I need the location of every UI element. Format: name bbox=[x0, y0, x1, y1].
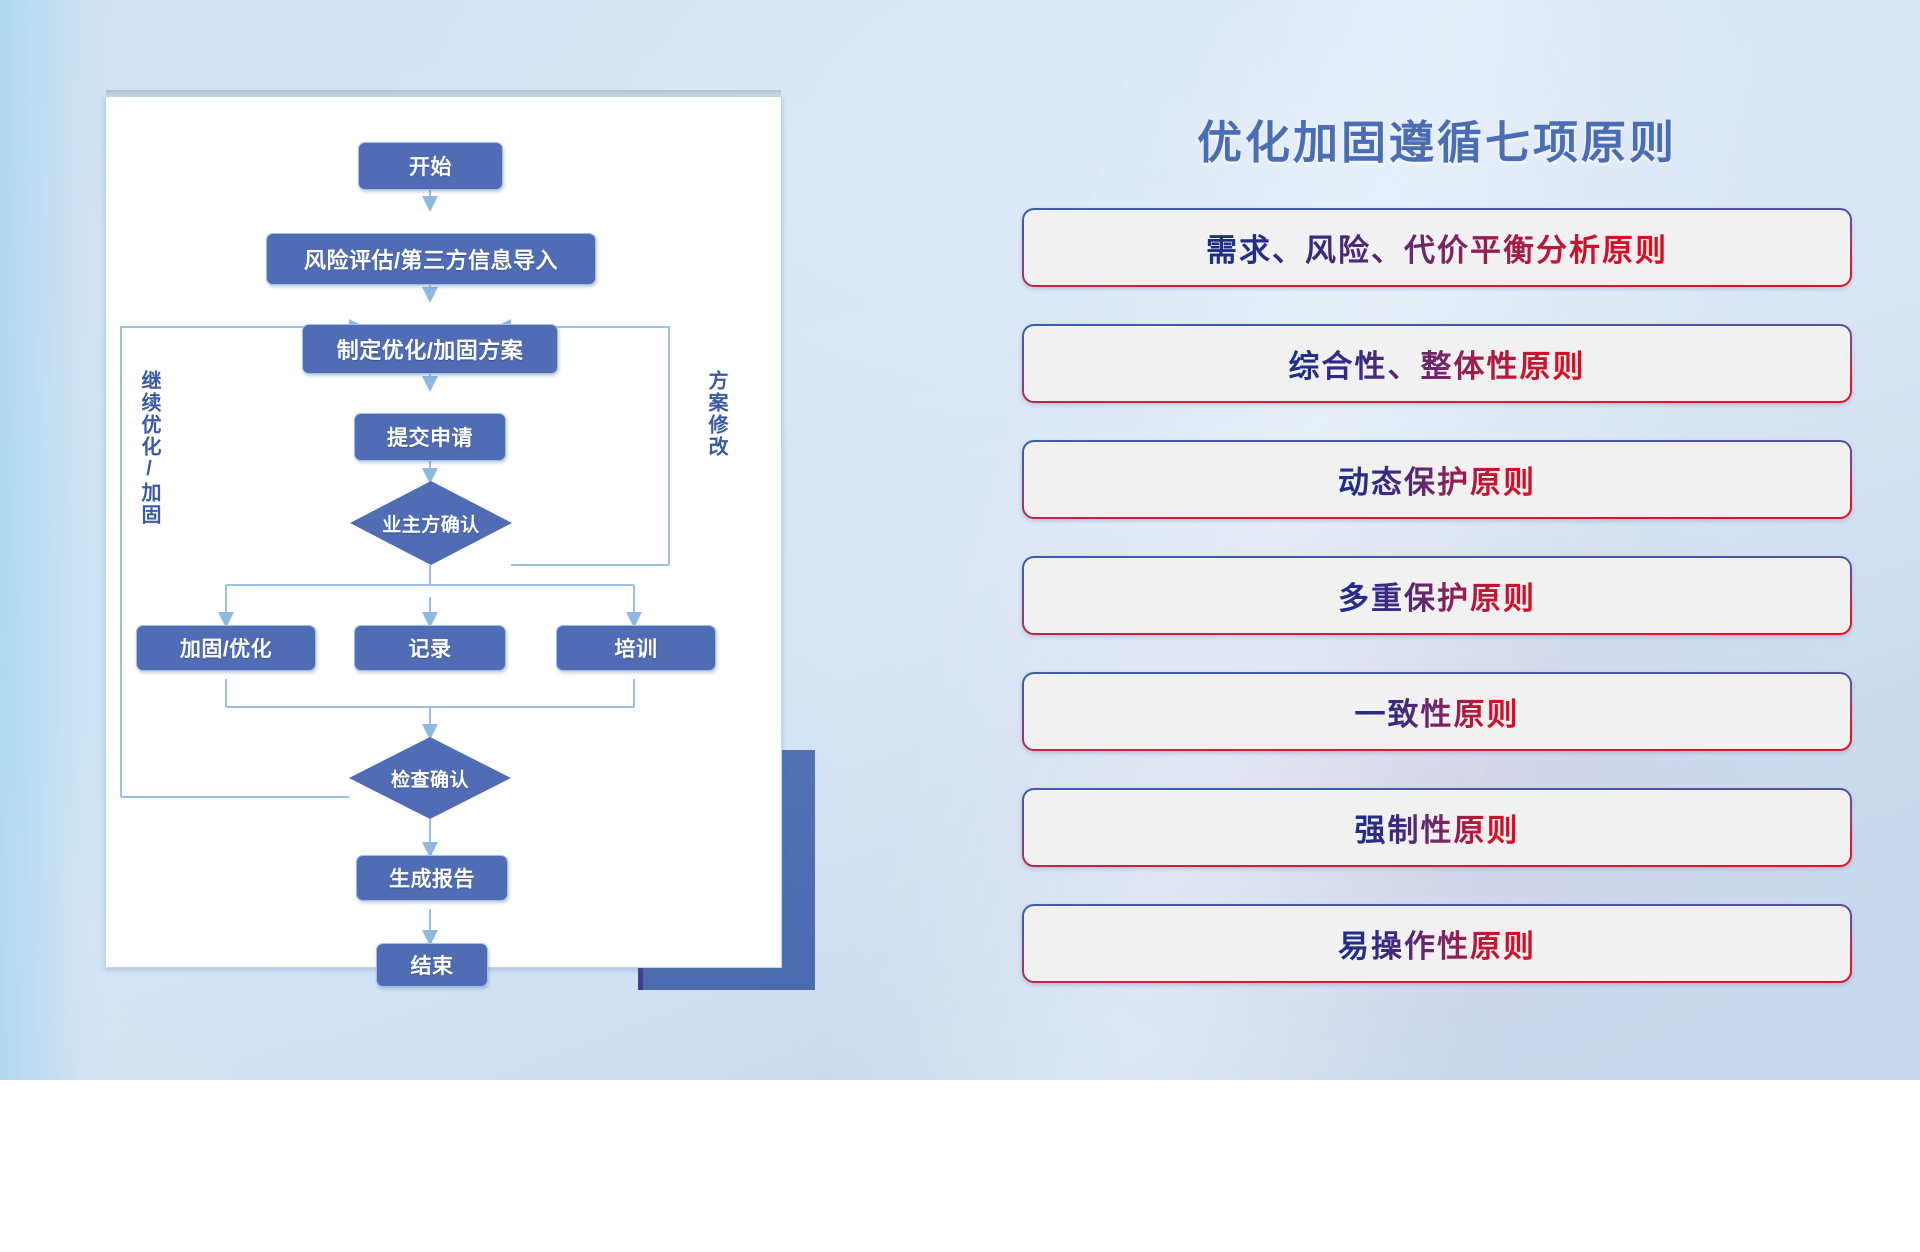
principle-list: 需求、风险、代价平衡分析原则 综合性、整体性原则 动态保护原则 多重保护原则 一… bbox=[1022, 208, 1852, 1020]
flow-node-end[interactable]: 结束 bbox=[376, 943, 488, 987]
flow-node-start[interactable]: 开始 bbox=[358, 142, 503, 190]
flow-node-risk-assessment[interactable]: 风险评估/第三方信息导入 bbox=[266, 233, 596, 285]
flow-node-plan-label: 制定优化/加固方案 bbox=[337, 333, 524, 365]
panel-title: 优化加固遵循七项原则 bbox=[1022, 106, 1852, 171]
principle-item-7-label: 易操作性原则 bbox=[1338, 921, 1536, 966]
flow-node-plan[interactable]: 制定优化/加固方案 bbox=[302, 324, 558, 374]
principle-item-4[interactable]: 多重保护原则 bbox=[1022, 556, 1852, 635]
flow-edge-label-plan-revision: 方案修改 bbox=[705, 370, 726, 458]
principle-item-3[interactable]: 动态保护原则 bbox=[1022, 440, 1852, 519]
flow-edge-label-continue-optimize: 继续优化/加固 bbox=[138, 370, 159, 526]
flow-node-submit-application-label: 提交申请 bbox=[387, 422, 473, 452]
principle-item-2-label: 综合性、整体性原则 bbox=[1289, 341, 1586, 386]
flow-node-training[interactable]: 培训 bbox=[556, 625, 716, 671]
flow-node-owner-confirm-label: 业主方确认 bbox=[382, 510, 480, 537]
principle-item-5-label: 一致性原则 bbox=[1355, 689, 1520, 734]
principle-item-1[interactable]: 需求、风险、代价平衡分析原则 bbox=[1022, 208, 1852, 287]
principle-item-6[interactable]: 强制性原则 bbox=[1022, 788, 1852, 867]
flowchart-canvas: 开始 风险评估/第三方信息导入 制定优化/加固方案 提交申请 业主方确认 加固/… bbox=[106, 97, 781, 967]
flow-node-generate-report[interactable]: 生成报告 bbox=[356, 855, 508, 901]
principle-item-6-label: 强制性原则 bbox=[1355, 805, 1520, 850]
principles-panel: 优化加固遵循七项原则 需求、风险、代价平衡分析原则 综合性、整体性原则 动态保护… bbox=[1022, 90, 1852, 1020]
flow-node-record[interactable]: 记录 bbox=[354, 625, 506, 671]
principle-item-4-body: 多重保护原则 bbox=[1024, 558, 1850, 633]
principle-item-3-body: 动态保护原则 bbox=[1024, 442, 1850, 517]
flow-node-risk-assessment-label: 风险评估/第三方信息导入 bbox=[304, 243, 558, 275]
principle-item-1-label: 需求、风险、代价平衡分析原则 bbox=[1206, 225, 1668, 270]
principle-item-7-body: 易操作性原则 bbox=[1024, 906, 1850, 981]
flow-node-check-confirm[interactable]: 检查确认 bbox=[349, 737, 511, 819]
principle-item-2-body: 综合性、整体性原则 bbox=[1024, 326, 1850, 401]
flow-node-start-label: 开始 bbox=[409, 151, 452, 181]
flow-node-check-confirm-label: 检查确认 bbox=[391, 765, 469, 792]
principle-item-6-body: 强制性原则 bbox=[1024, 790, 1850, 865]
principle-item-3-label: 动态保护原则 bbox=[1338, 457, 1536, 502]
flow-node-owner-confirm[interactable]: 业主方确认 bbox=[350, 481, 512, 565]
principle-item-1-body: 需求、风险、代价平衡分析原则 bbox=[1024, 210, 1850, 285]
principle-item-5[interactable]: 一致性原则 bbox=[1022, 672, 1852, 751]
flow-node-generate-report-label: 生成报告 bbox=[389, 863, 475, 893]
principle-item-4-label: 多重保护原则 bbox=[1338, 573, 1536, 618]
principle-item-7[interactable]: 易操作性原则 bbox=[1022, 904, 1852, 983]
flowchart-card: 开始 风险评估/第三方信息导入 制定优化/加固方案 提交申请 业主方确认 加固/… bbox=[105, 96, 782, 968]
flowchart-card-topbar bbox=[106, 90, 781, 97]
flow-node-record-label: 记录 bbox=[409, 633, 452, 663]
flow-node-reinforce-label: 加固/优化 bbox=[180, 633, 272, 663]
flow-node-submit-application[interactable]: 提交申请 bbox=[354, 413, 506, 461]
flow-node-end-label: 结束 bbox=[411, 950, 454, 980]
principle-item-5-body: 一致性原则 bbox=[1024, 674, 1850, 749]
flow-node-reinforce[interactable]: 加固/优化 bbox=[136, 625, 316, 671]
flow-node-training-label: 培训 bbox=[615, 633, 658, 663]
principle-item-2[interactable]: 综合性、整体性原则 bbox=[1022, 324, 1852, 403]
